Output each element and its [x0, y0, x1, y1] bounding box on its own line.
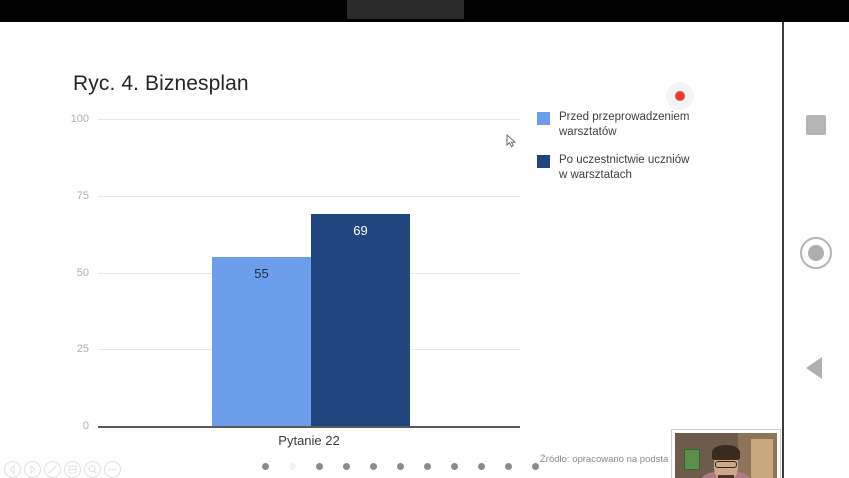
recording-indicator[interactable]: [666, 82, 694, 110]
legend-label-before: Przed przeprowadzeniem warsztatów: [559, 110, 689, 140]
source-note: Źródło: opracowano na podsta: [540, 454, 668, 465]
pagination-dot[interactable]: [262, 463, 269, 470]
chart-bar[interactable]: 55: [212, 257, 311, 426]
legend-swatch-after: [537, 155, 550, 168]
more-options-button[interactable]: [104, 461, 121, 478]
x-axis-category-label: Pytanie 22: [98, 433, 520, 448]
legend-item-before[interactable]: Przed przeprowadzeniem warsztatów: [537, 110, 727, 140]
pagination-dot[interactable]: [451, 463, 458, 470]
legend-label-after: Po uczestnictwie uczniów w warsztatach: [559, 153, 689, 183]
legend-item-after[interactable]: Po uczestnictwie uczniów w warsztatach: [537, 153, 727, 183]
home-circle-inner: [808, 245, 824, 261]
gridline: [98, 119, 520, 120]
bar-value-label: 69: [311, 223, 410, 238]
gridline: [98, 196, 520, 197]
annotate-pen-button[interactable]: [44, 461, 61, 478]
back-triangle-icon[interactable]: [806, 357, 822, 379]
pagination-dot[interactable]: [505, 463, 512, 470]
recents-square-icon[interactable]: [806, 115, 826, 135]
pagination-dot[interactable]: [532, 463, 539, 470]
cam-person-glasses: [715, 461, 737, 468]
cam-wall-picture: [684, 449, 700, 470]
device-status-bar: [0, 0, 849, 22]
record-dot-icon: [675, 91, 685, 101]
y-axis-tick-label: 50: [77, 267, 89, 279]
pointer-cursor-icon: [506, 134, 517, 148]
previous-slide-button[interactable]: [4, 461, 21, 478]
screen: Ryc. 4. Biznesplan 02550751005569 Pytani…: [0, 0, 849, 478]
pagination-dot[interactable]: [370, 463, 377, 470]
cam-door: [751, 439, 773, 478]
zoom-button[interactable]: [84, 461, 101, 478]
thumbnail-grid-button[interactable]: [64, 461, 81, 478]
page-title: Ryc. 4. Biznesplan: [73, 72, 249, 96]
android-nav-column: [782, 22, 849, 478]
pagination-dot[interactable]: [289, 463, 296, 470]
legend-swatch-before: [537, 112, 550, 125]
home-circle-icon[interactable]: [800, 237, 832, 269]
chart-bar[interactable]: 69: [311, 214, 410, 426]
self-view-video[interactable]: [672, 430, 780, 478]
legend-label-after-line2: w warsztatach: [559, 169, 632, 181]
chart-legend: Przed przeprowadzeniem warsztatów Po ucz…: [537, 110, 727, 196]
pagination-dot[interactable]: [316, 463, 323, 470]
next-slide-button[interactable]: [24, 461, 41, 478]
presentation-slide[interactable]: Ryc. 4. Biznesplan 02550751005569 Pytani…: [0, 22, 782, 456]
y-axis-tick-label: 100: [71, 113, 89, 125]
pagination-dot[interactable]: [343, 463, 350, 470]
legend-label-after-line1: Po uczestnictwie uczniów: [559, 154, 689, 166]
pagination-dot[interactable]: [478, 463, 485, 470]
pagination-dot[interactable]: [397, 463, 404, 470]
slide-pagination: [262, 463, 539, 470]
pagination-dot[interactable]: [424, 463, 431, 470]
legend-label-before-line1: Przed przeprowadzeniem: [559, 111, 689, 123]
x-axis-line: [98, 426, 520, 428]
bar-value-label: 55: [212, 266, 311, 281]
y-axis-tick-label: 75: [77, 190, 89, 202]
legend-label-before-line2: warsztatów: [559, 126, 617, 138]
chart-plot-area: 02550751005569: [98, 119, 520, 428]
slide-toolbar: [4, 461, 121, 478]
cam-person-hair: [712, 445, 741, 460]
y-axis-tick-label: 0: [83, 420, 89, 432]
y-axis-tick-label: 25: [77, 343, 89, 355]
camera-notch: [347, 0, 464, 19]
